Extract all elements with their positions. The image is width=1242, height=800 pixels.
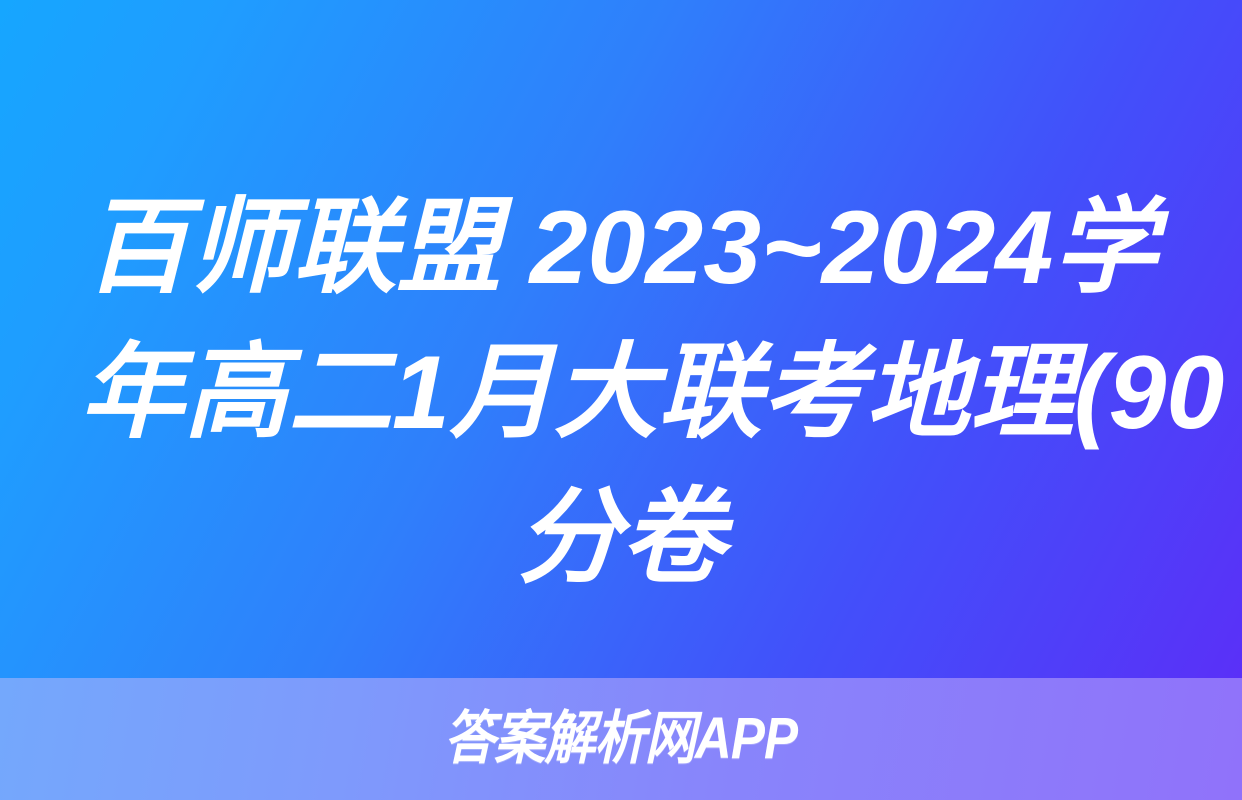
hero-gradient-background: 百师联盟 2023~2024学 年高二1月大联考地理(90 分卷 (0, 0, 1242, 678)
poster-title-line-2: 年高二1月大联考地理(90 (80, 321, 1162, 466)
poster-screen: 百师联盟 2023~2024学 年高二1月大联考地理(90 分卷 答案解析网AP… (0, 0, 1242, 800)
watermark-band: 答案解析网APP (0, 678, 1242, 800)
poster-title-line-1: 百师联盟 2023~2024学 (80, 176, 1162, 321)
watermark-label: 答案解析网APP (444, 710, 797, 768)
poster-title: 百师联盟 2023~2024学 年高二1月大联考地理(90 分卷 (80, 176, 1162, 611)
poster-title-line-3: 分卷 (80, 466, 1162, 611)
